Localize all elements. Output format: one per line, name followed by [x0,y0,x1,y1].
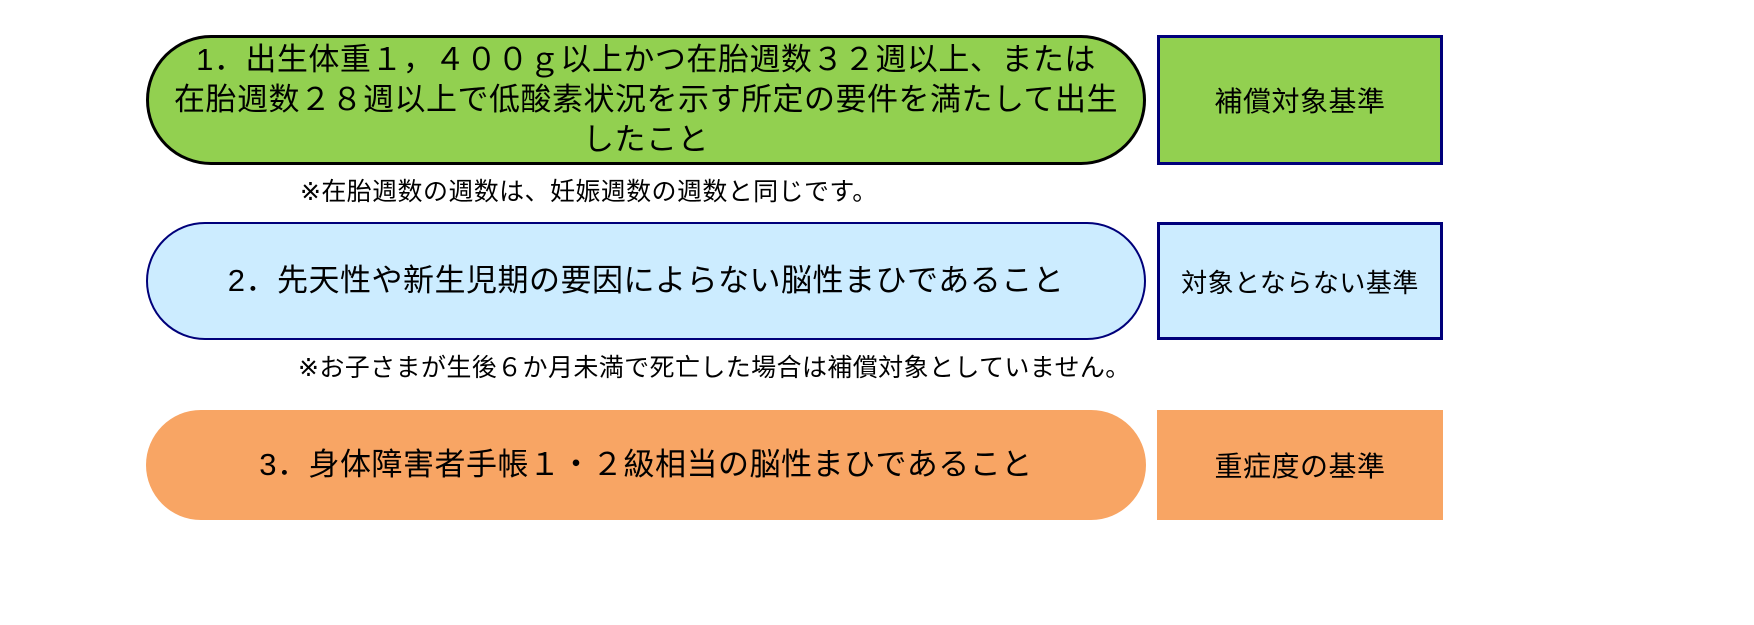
criterion-2-text: 2．先天性や新生児期の要因によらない脳性まひであること [228,261,1064,301]
note-1-text: ※在胎週数の週数は、妊娠週数の週数と同じです。 [300,178,878,206]
category-box-compensation-criteria: 補償対象基準 [1157,35,1443,165]
category-1-label: 補償対象基準 [1214,80,1385,120]
note-gestational-weeks: ※在胎週数の週数は、妊娠週数の週数と同じです。 [300,172,878,208]
category-3-label: 重症度の基準 [1214,445,1385,485]
note-2-text: ※お子さまが生後６か月未満で死亡した場合は補償対象としていません。 [298,354,1131,382]
diagram-canvas: 1．出生体重１，４００ｇ以上かつ在胎週数３２週以上、または 在胎週数２８週以上で… [0,0,1754,625]
category-box-severity-criteria: 重症度の基準 [1157,410,1443,520]
category-box-exclusion-criteria: 対象とならない基準 [1157,222,1443,340]
criterion-3-text: 3．身体障害者手帳１・２級相当の脳性まひであること [259,445,1032,485]
criterion-bar-3: 3．身体障害者手帳１・２級相当の脳性まひであること [146,410,1146,520]
criterion-1-text: 1．出生体重１，４００ｇ以上かつ在胎週数３２週以上、または 在胎週数２８週以上で… [167,40,1125,161]
criterion-bar-2: 2．先天性や新生児期の要因によらない脳性まひであること [146,222,1146,340]
category-2-label: 対象とならない基準 [1181,263,1419,300]
criterion-bar-1: 1．出生体重１，４００ｇ以上かつ在胎週数３２週以上、または 在胎週数２８週以上で… [146,35,1146,165]
note-infant-death: ※お子さまが生後６か月未満で死亡した場合は補償対象としていません。 [298,348,1131,384]
